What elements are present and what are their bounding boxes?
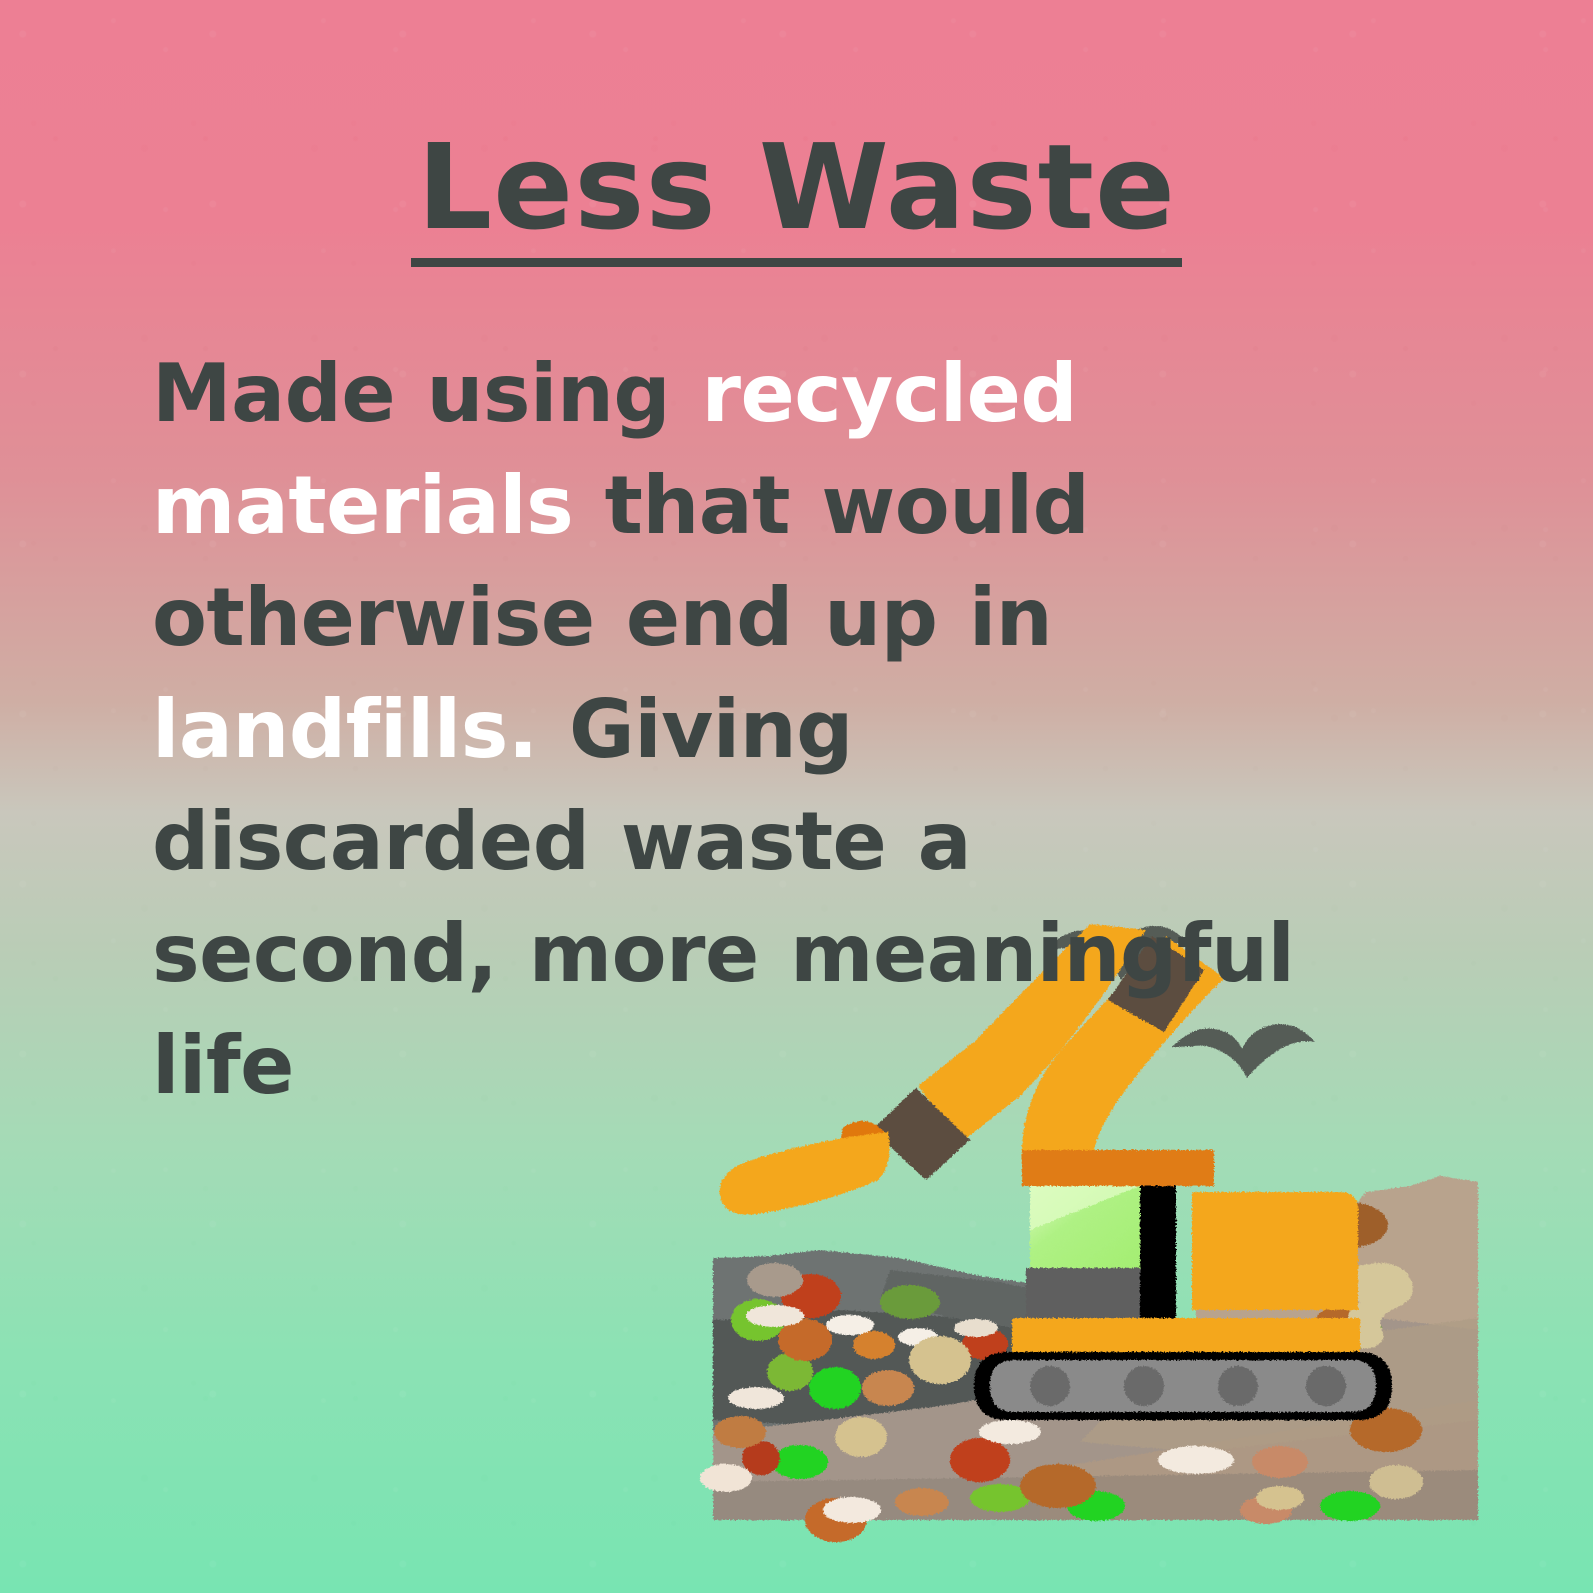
page-title: Less Waste: [411, 128, 1182, 267]
body-segment: Made using: [152, 347, 702, 440]
poster-canvas: Less Waste Made using recycled materials…: [0, 0, 1593, 1593]
title-block: Less Waste: [0, 128, 1593, 267]
body-paragraph: Made using recycled materials that would…: [152, 338, 1302, 1122]
body-segment-highlight: landfills.: [152, 683, 538, 776]
